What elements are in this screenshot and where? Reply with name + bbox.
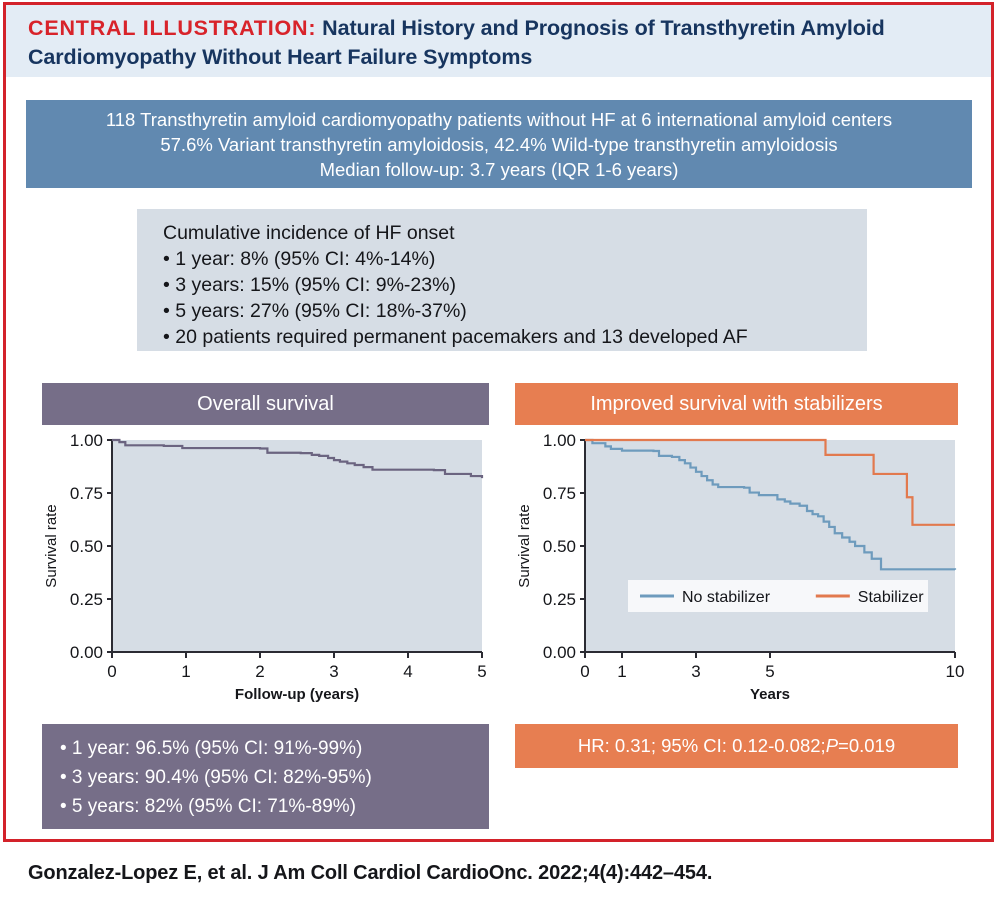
svg-text:Survival rate: Survival rate: [43, 504, 60, 587]
svg-text:1.00: 1.00: [70, 431, 103, 450]
svg-text:0.75: 0.75: [70, 484, 103, 503]
incidence-item: • 20 patients required permanent pacemak…: [163, 324, 867, 350]
hr-p-symbol: P: [826, 735, 838, 757]
svg-text:0.00: 0.00: [70, 643, 103, 662]
svg-text:0: 0: [580, 662, 589, 681]
hr-suffix: =0.019: [838, 735, 895, 757]
svg-text:0.50: 0.50: [70, 537, 103, 556]
panel-header-overall-survival: Overall survival: [42, 383, 489, 425]
overall-survival-chart: 0.000.250.500.751.00012345Follow-up (yea…: [42, 430, 492, 710]
svg-text:3: 3: [329, 662, 338, 681]
svg-text:0.75: 0.75: [543, 484, 576, 503]
summary-line: 57.6% Variant transthyretin amyloidosis,…: [160, 132, 837, 157]
svg-text:3: 3: [691, 662, 700, 681]
survival-result-item: • 3 years: 90.4% (95% CI: 82%-95%): [60, 763, 489, 792]
svg-text:0.00: 0.00: [543, 643, 576, 662]
overall-survival-results-box: • 1 year: 96.5% (95% CI: 91%-99%) • 3 ye…: [42, 724, 489, 829]
stabilizer-survival-svg: 0.000.250.500.751.00013510YearsSurvival …: [515, 430, 965, 710]
panel-header-stabilizer-survival: Improved survival with stabilizers: [515, 383, 958, 425]
svg-text:Follow-up (years): Follow-up (years): [235, 686, 359, 703]
incidence-item: • 3 years: 15% (95% CI: 9%-23%): [163, 272, 867, 298]
incidence-heading: Cumulative incidence of HF onset: [163, 220, 867, 246]
citation: Gonzalez-Lopez E, et al. J Am Coll Cardi…: [28, 862, 712, 885]
overall-survival-svg: 0.000.250.500.751.00012345Follow-up (yea…: [42, 430, 492, 710]
svg-text:10: 10: [946, 662, 965, 681]
svg-text:0: 0: [107, 662, 116, 681]
svg-text:5: 5: [765, 662, 774, 681]
svg-text:2: 2: [255, 662, 264, 681]
svg-text:1.00: 1.00: [543, 431, 576, 450]
svg-text:1: 1: [617, 662, 626, 681]
title-prefix: CENTRAL ILLUSTRATION:: [28, 16, 316, 40]
summary-line: Median follow-up: 3.7 years (IQR 1-6 yea…: [320, 157, 679, 182]
cumulative-incidence-box: Cumulative incidence of HF onset • 1 yea…: [137, 209, 867, 351]
stabilizer-survival-chart: 0.000.250.500.751.00013510YearsSurvival …: [515, 430, 965, 710]
svg-text:Stabilizer: Stabilizer: [858, 589, 924, 606]
summary-line: 118 Transthyretin amyloid cardiomyopathy…: [106, 107, 892, 132]
page-title: CENTRAL ILLUSTRATION: Natural History an…: [28, 14, 977, 72]
svg-text:No stabilizer: No stabilizer: [682, 589, 771, 606]
central-illustration-figure: CENTRAL ILLUSTRATION: Natural History an…: [0, 0, 997, 920]
svg-text:4: 4: [403, 662, 412, 681]
svg-text:Years: Years: [750, 686, 790, 703]
svg-text:0.25: 0.25: [543, 590, 576, 609]
svg-text:0.50: 0.50: [543, 537, 576, 556]
svg-text:Survival rate: Survival rate: [516, 504, 533, 587]
svg-text:0.25: 0.25: [70, 590, 103, 609]
svg-text:1: 1: [181, 662, 190, 681]
survival-result-item: • 5 years: 82% (95% CI: 71%-89%): [60, 792, 489, 821]
figure-title-band: CENTRAL ILLUSTRATION: Natural History an…: [6, 5, 991, 77]
incidence-item: • 5 years: 27% (95% CI: 18%-37%): [163, 298, 867, 324]
incidence-item: • 1 year: 8% (95% CI: 4%-14%): [163, 246, 867, 272]
survival-result-item: • 1 year: 96.5% (95% CI: 91%-99%): [60, 734, 489, 763]
hr-prefix: HR: 0.31; 95% CI: 0.12-0.082;: [578, 735, 826, 757]
cohort-summary-box: 118 Transthyretin amyloid cardiomyopathy…: [26, 100, 972, 188]
hazard-ratio-box: HR: 0.31; 95% CI: 0.12-0.082; P=0.019: [515, 724, 958, 768]
svg-text:5: 5: [477, 662, 486, 681]
